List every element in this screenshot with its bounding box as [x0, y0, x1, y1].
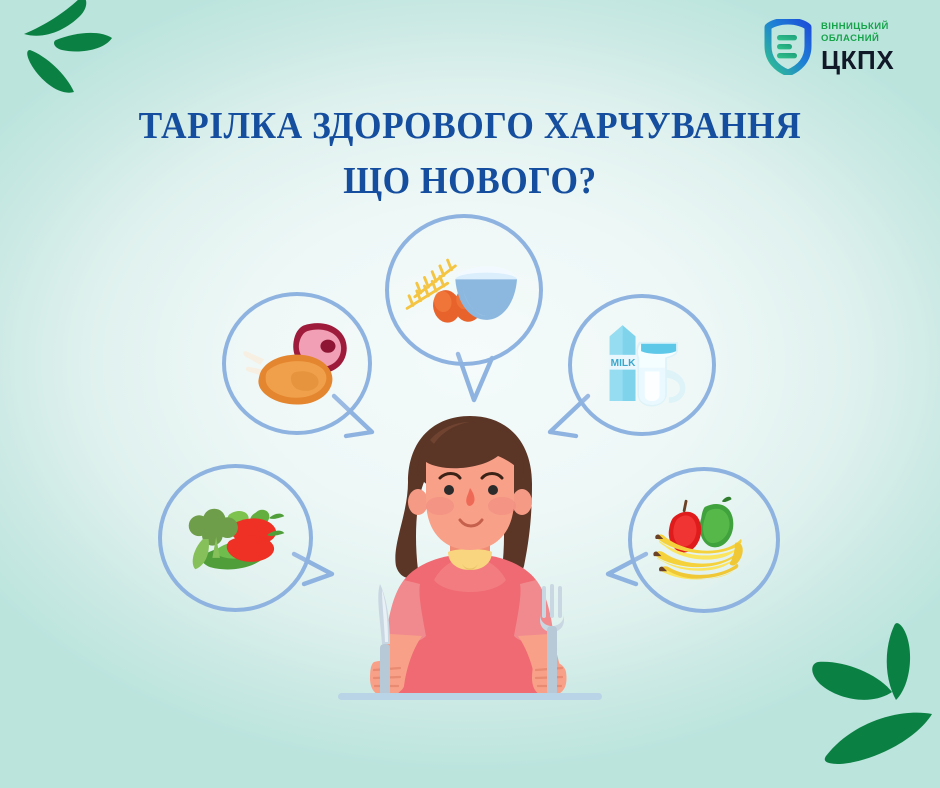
bubble-fruits [628, 467, 780, 613]
bubble-vegetables [158, 464, 313, 612]
table-edge [338, 693, 602, 700]
fruits-icon [632, 471, 776, 609]
grain-bowl-icon [389, 218, 539, 362]
title-line-2: ЩО НОВОГО? [33, 154, 907, 209]
woman-with-cutlery [330, 404, 610, 704]
vegetables-icon [162, 468, 309, 608]
page-title: ТАРІЛКА ЗДОРОВОГО ХАРЧУВАННЯ ЩО НОВОГО? [0, 99, 940, 209]
logo-subtitle-line2: ОБЛАСНИЙ [821, 33, 894, 45]
organization-logo: ВІННИЦЬКИЙ ОБЛАСНИЙ ЦКПХ [764, 16, 928, 78]
logo-text-block: ВІННИЦЬКИЙ ОБЛАСНИЙ ЦКПХ [821, 21, 894, 72]
shield-icon [764, 19, 812, 75]
milk-carton-label: MILK [611, 358, 636, 369]
poster-canvas: ВІННИЦЬКИЙ ОБЛАСНИЙ ЦКПХ ТАРІЛКА ЗДОРОВО… [0, 0, 940, 788]
bubble-grain [385, 214, 543, 366]
logo-acronym: ЦКПХ [821, 47, 894, 73]
logo-subtitle-line1: ВІННИЦЬКИЙ [821, 21, 894, 33]
title-line-1: ТАРІЛКА ЗДОРОВОГО ХАРЧУВАННЯ [33, 99, 907, 154]
leaves-decoration-bottom-right [796, 604, 940, 788]
